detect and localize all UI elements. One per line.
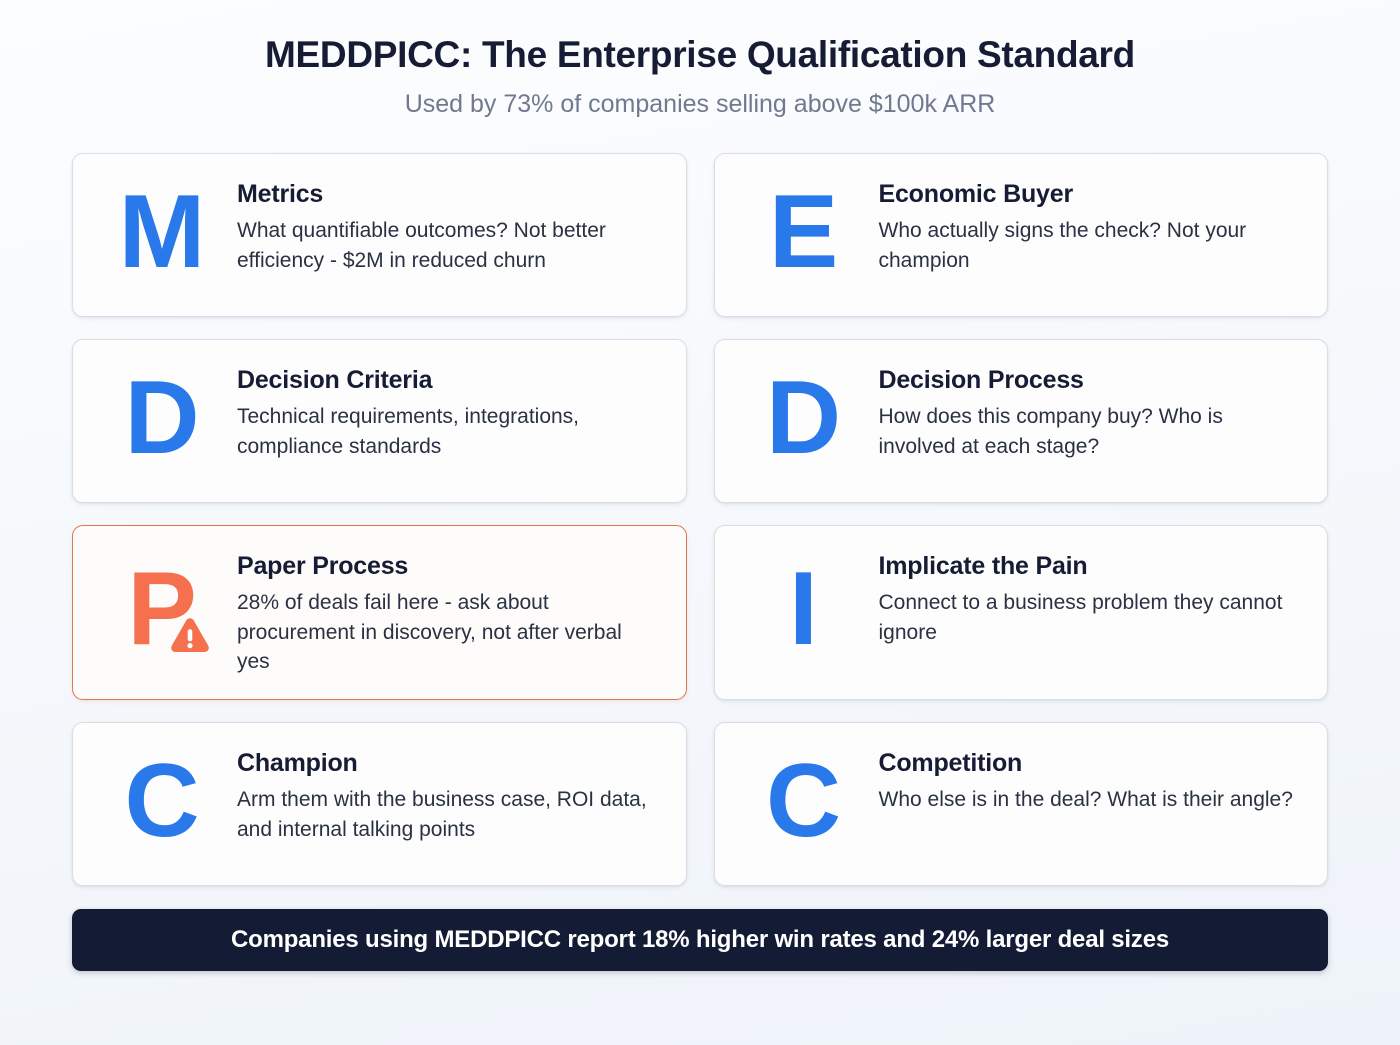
card-description: Connect to a business problem they canno… bbox=[879, 588, 1302, 647]
card-body: Decision ProcessHow does this company bu… bbox=[879, 362, 1302, 462]
card-letter: M bbox=[119, 188, 204, 277]
card-body: Decision CriteriaTechnical requirements,… bbox=[237, 362, 660, 462]
letter-badge-economic-buyer: E bbox=[739, 188, 867, 281]
card-title: Decision Criteria bbox=[237, 366, 660, 396]
footer-banner: Companies using MEDDPICC report 18% high… bbox=[72, 909, 1328, 971]
card-description: 28% of deals fail here - ask about procu… bbox=[237, 588, 660, 677]
letter-badge-competition: C bbox=[739, 757, 867, 850]
card-description: What quantifiable outcomes? Not better e… bbox=[237, 216, 660, 275]
page-subtitle: Used by 73% of companies selling above $… bbox=[72, 89, 1328, 119]
card-title: Champion bbox=[237, 749, 660, 779]
card-description: Technical requirements, integrations, co… bbox=[237, 402, 660, 461]
card-letter: D bbox=[766, 374, 839, 463]
card-letter: C bbox=[766, 757, 839, 846]
page-title: MEDDPICC: The Enterprise Qualification S… bbox=[72, 34, 1328, 77]
card-title: Implicate the Pain bbox=[879, 552, 1302, 582]
card-title: Paper Process bbox=[237, 552, 660, 582]
card-body: ChampionArm them with the business case,… bbox=[237, 745, 660, 845]
card-letter: D bbox=[124, 374, 197, 463]
card-description: Who actually signs the check? Not your c… bbox=[879, 216, 1302, 275]
card-body: MetricsWhat quantifiable outcomes? Not b… bbox=[237, 176, 660, 276]
letter-badge-champion: C bbox=[97, 757, 225, 850]
card-title: Competition bbox=[879, 749, 1302, 779]
card-implicate-the-pain[interactable]: IImplicate the PainConnect to a business… bbox=[714, 525, 1329, 700]
card-letter: I bbox=[789, 565, 816, 654]
letter-badge-decision-process: D bbox=[739, 374, 867, 467]
card-decision-process[interactable]: DDecision ProcessHow does this company b… bbox=[714, 339, 1329, 503]
card-economic-buyer[interactable]: EEconomic BuyerWho actually signs the ch… bbox=[714, 153, 1329, 317]
card-description: How does this company buy? Who is involv… bbox=[879, 402, 1302, 461]
card-title: Economic Buyer bbox=[879, 180, 1302, 210]
letter-badge-paper-process: P bbox=[97, 565, 225, 658]
footer-banner-text: Companies using MEDDPICC report 18% high… bbox=[211, 926, 1189, 954]
card-description: Who else is in the deal? What is their a… bbox=[879, 785, 1302, 815]
card-description: Arm them with the business case, ROI dat… bbox=[237, 785, 660, 844]
card-body: Economic BuyerWho actually signs the che… bbox=[879, 176, 1302, 276]
meddpicc-card-grid: MMetricsWhat quantifiable outcomes? Not … bbox=[72, 153, 1328, 886]
letter-badge-metrics: M bbox=[97, 188, 225, 281]
card-paper-process[interactable]: PPaper Process28% of deals fail here - a… bbox=[72, 525, 687, 700]
card-metrics[interactable]: MMetricsWhat quantifiable outcomes? Not … bbox=[72, 153, 687, 317]
letter-badge-decision-criteria: D bbox=[97, 374, 225, 467]
letter-badge-implicate-the-pain: I bbox=[739, 565, 867, 658]
card-letter: E bbox=[769, 188, 836, 277]
card-body: Implicate the PainConnect to a business … bbox=[879, 548, 1302, 648]
card-letter: C bbox=[124, 757, 197, 846]
page-header: MEDDPICC: The Enterprise Qualification S… bbox=[72, 34, 1328, 119]
card-title: Metrics bbox=[237, 180, 660, 210]
card-decision-criteria[interactable]: DDecision CriteriaTechnical requirements… bbox=[72, 339, 687, 503]
card-body: Paper Process28% of deals fail here - as… bbox=[237, 548, 660, 677]
card-champion[interactable]: CChampionArm them with the business case… bbox=[72, 722, 687, 886]
card-competition[interactable]: CCompetitionWho else is in the deal? Wha… bbox=[714, 722, 1329, 886]
meddpicc-infographic: MEDDPICC: The Enterprise Qualification S… bbox=[0, 0, 1400, 1045]
card-title: Decision Process bbox=[879, 366, 1302, 396]
card-body: CompetitionWho else is in the deal? What… bbox=[879, 745, 1302, 815]
warning-triangle-icon bbox=[169, 615, 211, 653]
